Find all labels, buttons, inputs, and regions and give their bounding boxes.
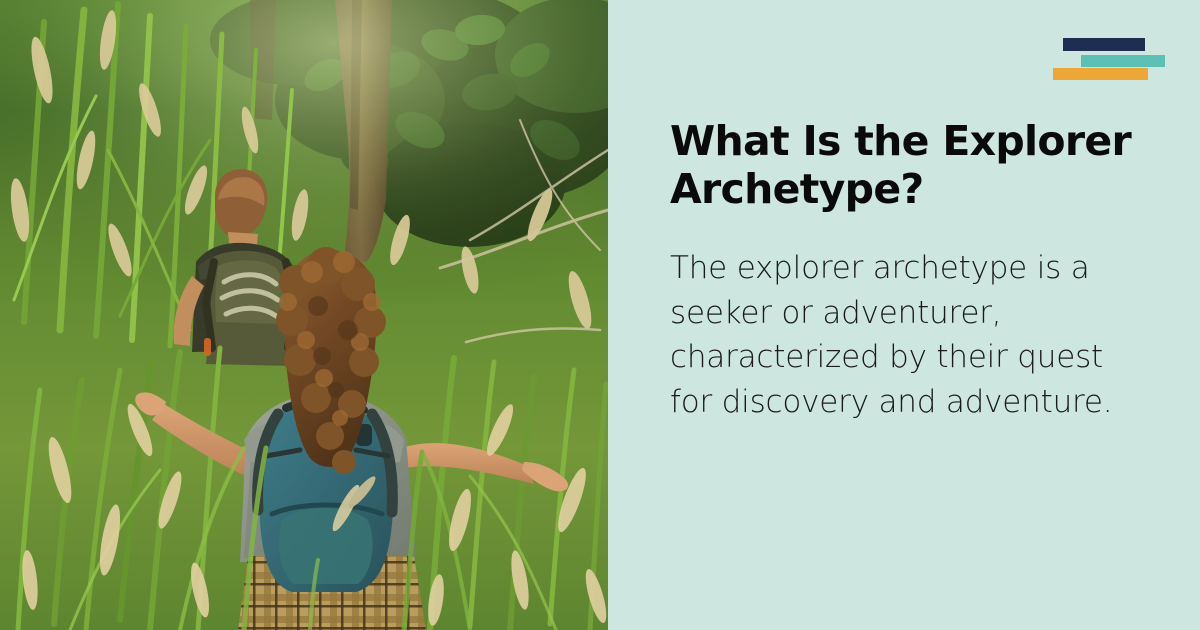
social-card: What Is the Explorer Archetype? The expl…	[0, 0, 1200, 630]
body-paragraph: The explorer archetype is a seeker or ad…	[670, 214, 1130, 425]
hero-photo	[0, 0, 608, 630]
panel-content: What Is the Explorer Archetype? The expl…	[670, 118, 1175, 424]
navy-bar	[1063, 38, 1145, 51]
page-title: What Is the Explorer Archetype?	[670, 118, 1170, 214]
orange-bar	[1053, 68, 1148, 80]
text-panel: What Is the Explorer Archetype? The expl…	[608, 0, 1200, 630]
decorative-bars	[608, 0, 1200, 120]
teal-bar	[1081, 55, 1165, 67]
hiking-scene-illustration	[0, 0, 608, 630]
